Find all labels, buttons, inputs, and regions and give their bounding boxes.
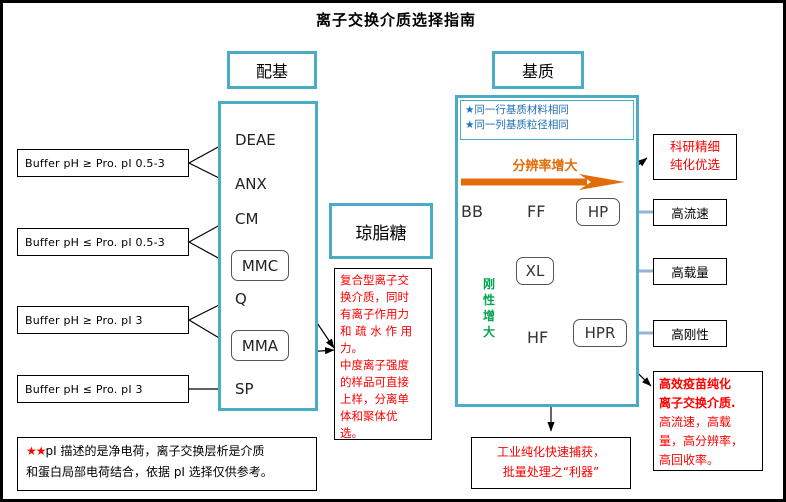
mixed-mode-note-line: 中度离子强度 <box>340 357 426 374</box>
industrial-capture-note: 工业纯化快速捕获， 批量处理之“利器” <box>471 437 631 489</box>
page-title: 离子交换介质选择指南 <box>3 9 786 30</box>
buffer-condition-3[interactable]: Buffer pH ≥ Pro. pI 3 <box>17 306 189 334</box>
vaccine-note-bold-line: 高效疫苗纯化 <box>659 375 758 394</box>
capture-note-line: 批量处理之“利器” <box>472 462 630 482</box>
mixed-mode-note-line: 有离子作用力 <box>340 306 426 323</box>
footer-note-text-1: pI 描述的是净电荷，离子交换层析是介质 <box>46 444 265 458</box>
outcome-high-flow-rate[interactable]: 高流速 <box>653 199 727 226</box>
matrix-note-row: ★同一行基质材料相同 <box>465 103 629 118</box>
matrix-cell-hpr[interactable]: HPR <box>573 319 627 347</box>
outcome-high-rigidity[interactable]: 高刚性 <box>653 320 727 347</box>
vaccine-note-line: 高流速，高载 <box>659 413 758 432</box>
rigidity-arrow-label: 刚性增大 <box>481 276 497 340</box>
outcome-line: 纯化优选 <box>654 156 736 174</box>
matrix-cell-xl[interactable]: XL <box>516 257 554 285</box>
matrix-cell-hf[interactable]: HF <box>527 328 548 347</box>
ligand-item-q[interactable]: Q <box>235 290 247 308</box>
vaccine-note-line: 高回收率。 <box>659 451 758 470</box>
mixed-mode-note-line: 体和聚体优 <box>340 408 426 425</box>
ligand-item-anx[interactable]: ANX <box>235 175 267 193</box>
ligand-panel-header: 配基 <box>227 51 317 89</box>
mixed-mode-note-line: 的样品可直接 <box>340 374 426 391</box>
mixed-mode-note: 复合型离子交 换介质，同时 有离子作用力 和 疏 水 作 用 力。 中度离子强度… <box>334 268 432 440</box>
outcome-high-capacity[interactable]: 高载量 <box>653 258 727 285</box>
ligand-item-deae[interactable]: DEAE <box>235 131 276 149</box>
mixed-mode-note-line: 复合型离子交 <box>340 272 426 289</box>
footer-note-line-1: ★★pI 描述的是净电荷，离子交换层析是介质 <box>26 441 310 462</box>
vaccine-note-bold-line: 离子交换介质. <box>659 394 758 413</box>
mixed-mode-note-line: 和 疏 水 作 用 <box>340 323 426 340</box>
outcome-line: 科研精细 <box>654 138 736 156</box>
matrix-notes: ★同一行基质材料相同 ★同一列基质粒径相同 <box>460 100 634 140</box>
mixed-mode-note-line: 选。 <box>340 425 426 442</box>
footer-note-line-2: 和蛋白局部电荷结合，依据 pI 选择仅供参考。 <box>26 462 310 483</box>
ligand-item-mma[interactable]: MMA <box>231 330 289 361</box>
mixed-mode-note-line: 上样，分离单 <box>340 391 426 408</box>
matrix-cell-bb[interactable]: BB <box>461 202 483 221</box>
footer-note: ★★pI 描述的是净电荷，离子交换层析是介质 和蛋白局部电荷结合，依据 pI 选… <box>17 437 317 491</box>
star-icon: ★★ <box>26 444 46 458</box>
buffer-condition-4[interactable]: Buffer pH ≤ Pro. pI 3 <box>17 375 189 403</box>
ligand-item-cm[interactable]: CM <box>235 210 258 228</box>
resolution-arrow-icon <box>459 171 627 193</box>
rigidity-arrow-text: 刚性增大 <box>481 276 497 340</box>
mixed-mode-note-line: 换介质，同时 <box>340 289 426 306</box>
buffer-condition-2[interactable]: Buffer pH ≤ Pro. pI 0.5-3 <box>17 228 189 256</box>
outcome-research-purification[interactable]: 科研精细 纯化优选 <box>653 134 737 180</box>
buffer-condition-1[interactable]: Buffer pH ≥ Pro. pI 0.5-3 <box>17 149 189 177</box>
mixed-mode-note-line: 力。 <box>340 340 426 357</box>
vaccine-note-line: 量，高分辨率， <box>659 432 758 451</box>
matrix-cell-ff[interactable]: FF <box>527 202 545 221</box>
diagram-canvas: 离子交换介质选择指南 <box>0 0 786 502</box>
ligand-item-sp[interactable]: SP <box>235 380 254 398</box>
ligand-item-mmc[interactable]: MMC <box>231 250 289 281</box>
capture-note-line: 工业纯化快速捕获， <box>472 442 630 462</box>
matrix-panel <box>455 95 639 407</box>
matrix-note-column: ★同一列基质粒径相同 <box>465 118 629 133</box>
matrix-cell-hp[interactable]: HP <box>576 198 620 226</box>
agarose-header: 琼脂糖 <box>329 203 433 259</box>
vaccine-purification-note: 高效疫苗纯化 离子交换介质. 高流速，高载 量，高分辨率， 高回收率。 <box>653 371 763 471</box>
matrix-panel-header: 基质 <box>492 51 584 89</box>
